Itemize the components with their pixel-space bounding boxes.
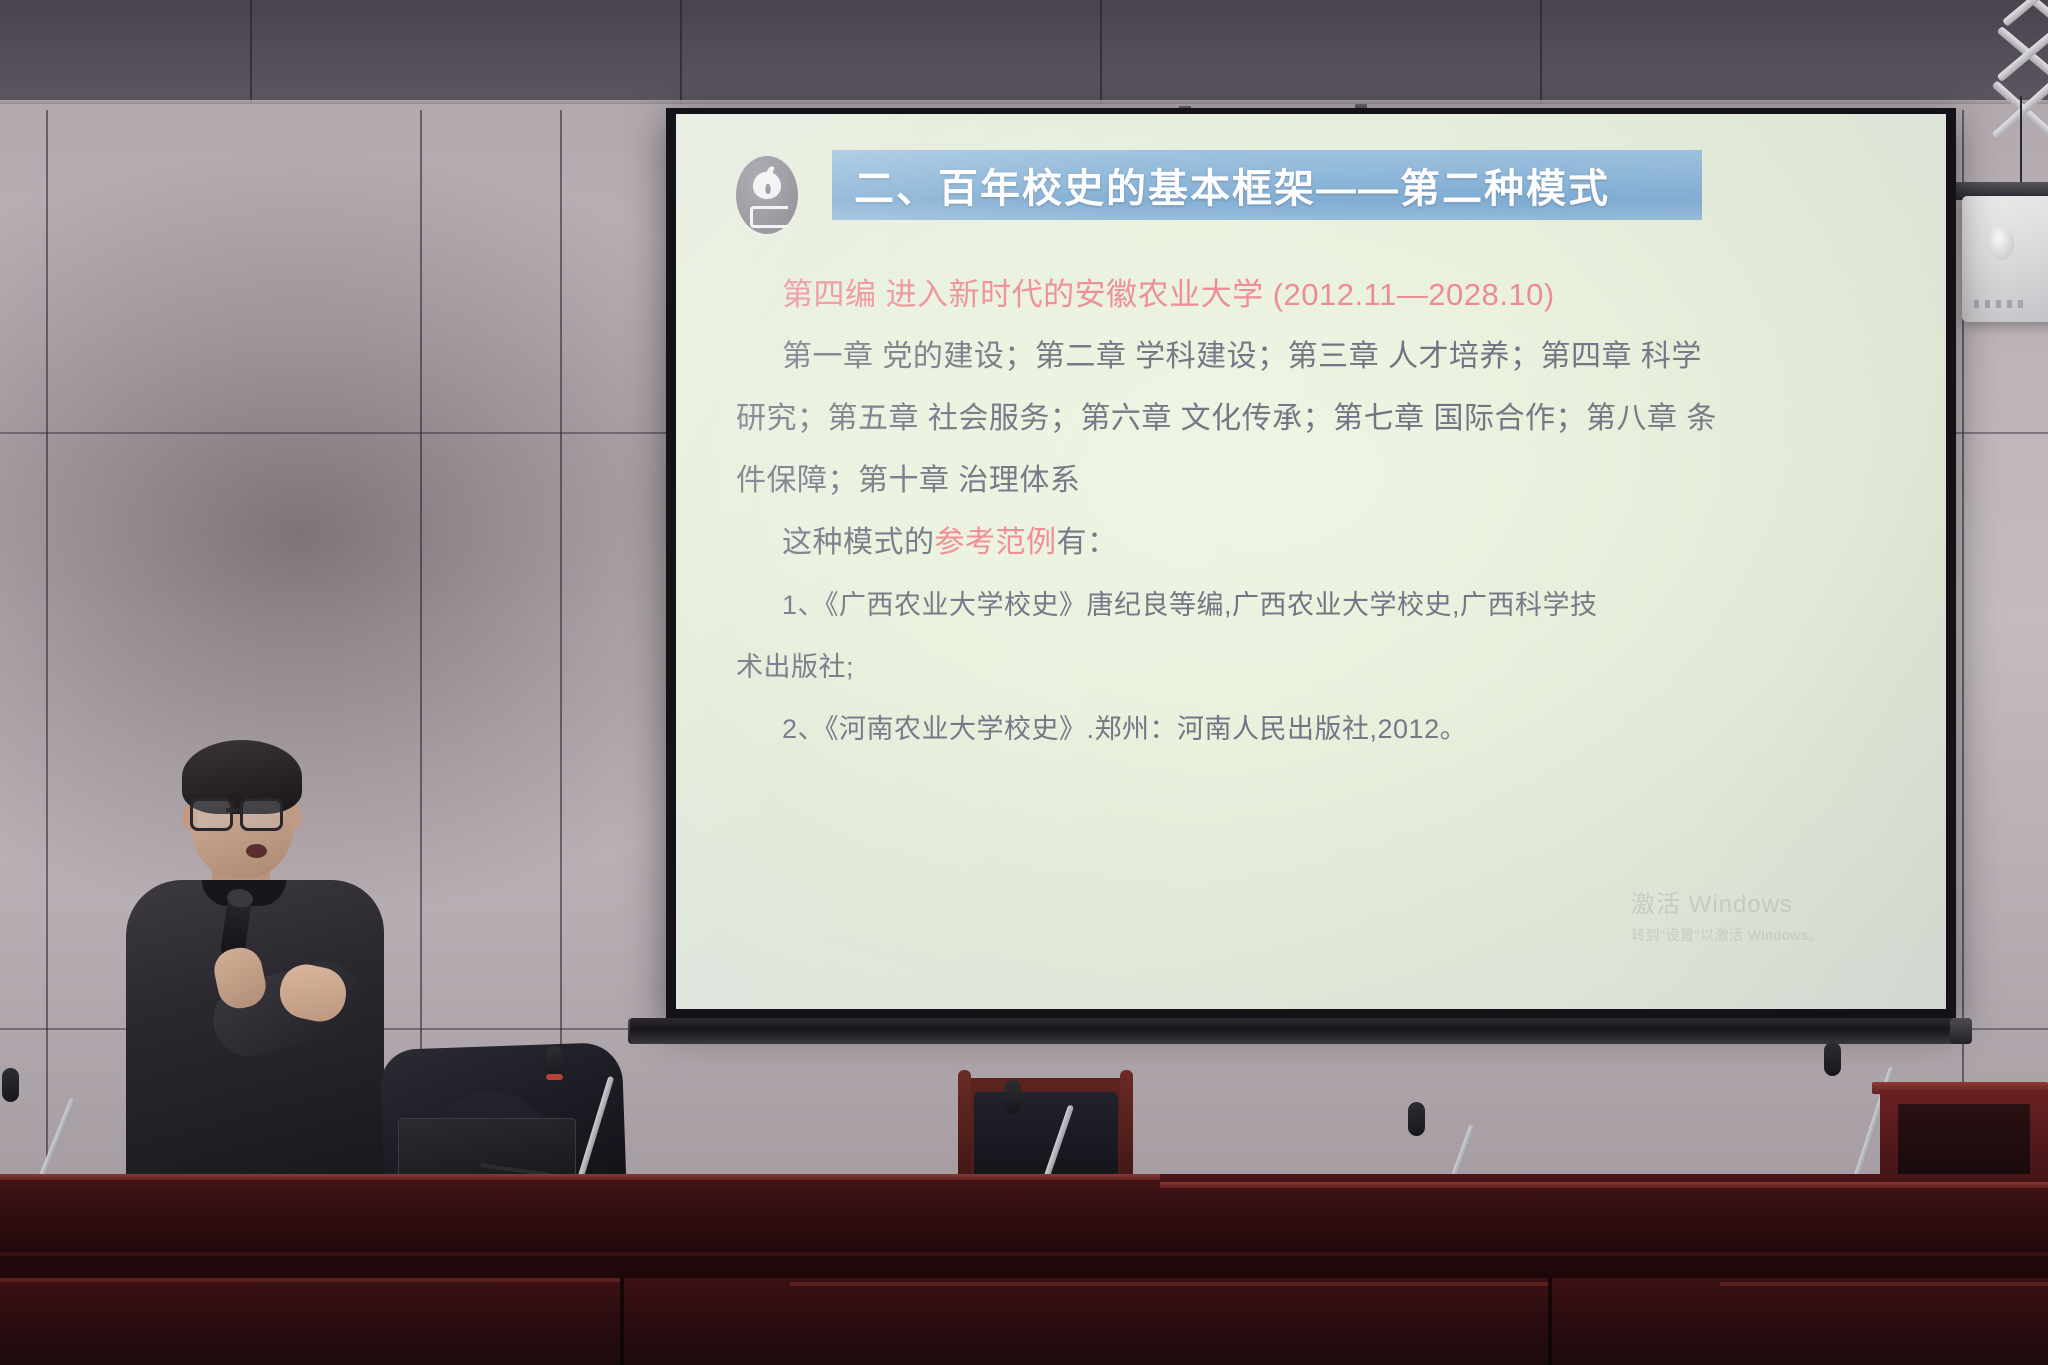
ceiling-seam [680, 0, 682, 104]
slide-title: 二、百年校史的基本框架——第二种模式 [832, 156, 1610, 214]
wood-panel-highlight [790, 1282, 1550, 1286]
microphone-capsule [1824, 1042, 1841, 1076]
table-edge [1160, 1182, 2048, 1188]
chapter-line: 第一章 党的建设；第二章 学科建设；第三章 人才培养；第四章 科学 [736, 326, 1926, 388]
wall-seam [420, 110, 422, 1170]
eyeglasses-icon [190, 798, 233, 831]
chapter-line: 研究；第五章 社会服务；第六章 文化传承；第七章 国际合作；第八章 条 [736, 388, 1926, 450]
example-reference: 1、《广西农业大学校史》唐纪良等编,广西农业大学校史,广西科学技 [736, 574, 1926, 636]
ceiling-seam [1100, 0, 1102, 104]
wood-panel-highlight [1720, 1282, 2048, 1286]
eyeglasses-bridge [226, 808, 240, 812]
university-logo-icon [736, 156, 798, 234]
microphone-capsule [1004, 1080, 1021, 1114]
wood-trim [0, 1252, 2048, 1256]
ceiling-seam [250, 0, 252, 104]
examples-intro: 这种模式的参考范例有： [736, 512, 1926, 574]
wood-panel-highlight [0, 1278, 620, 1282]
wall-seam [46, 110, 48, 1170]
chair-post [1120, 1070, 1133, 1180]
screen-roller-cap [1950, 1018, 1972, 1044]
watermark-line-1: 激活 Windows [1631, 884, 1823, 919]
chair-post [958, 1070, 971, 1180]
presenter [120, 740, 400, 1180]
projector-body [1962, 196, 2048, 322]
podium-panel [1898, 1104, 2030, 1178]
chapter-line: 件保障；第十章 治理体系 [736, 450, 1926, 512]
examples-intro-before: 这种模式的 [782, 526, 935, 559]
examples-intro-highlight: 参考范例 [935, 526, 1057, 559]
wood-panel-row [0, 1278, 2048, 1365]
watermark-line-2: 转到"设置"以激活 Windows。 [1631, 925, 1823, 945]
wood-panel-divider [1548, 1278, 1552, 1365]
screen-roller-bar[interactable] [630, 1018, 1956, 1044]
ceiling-beam [0, 0, 2048, 104]
presentation-slide: 二、百年校史的基本框架——第二种模式 第四编 进入新时代的安徽农业大学 (201… [676, 114, 1946, 1009]
eyeglasses-icon [240, 798, 283, 831]
projector-lens-icon [1988, 226, 2014, 260]
ceiling-seam [1540, 0, 1542, 104]
wood-panel-divider [620, 1278, 624, 1365]
slide-title-bar: 二、百年校史的基本框架——第二种模式 [832, 150, 1702, 220]
slide-body: 第四编 进入新时代的安徽农业大学 (2012.11—2028.10) 第一章 党… [736, 264, 1926, 760]
book-icon [750, 206, 788, 228]
example-reference: 2、《河南农业大学校史》.郑州：河南人民出版社,2012。 [736, 698, 1926, 760]
microphone-status-ring [546, 1074, 563, 1080]
example-reference-cont: 术出版社; [736, 636, 1926, 698]
examples-intro-after: 有： [1057, 526, 1118, 559]
microphone-capsule [1408, 1102, 1425, 1136]
slide-section-heading: 第四编 进入新时代的安徽农业大学 (2012.11—2028.10) [736, 264, 1926, 326]
lecture-hall-scene: 二、百年校史的基本框架——第二种模式 第四编 进入新时代的安徽农业大学 (201… [0, 0, 2048, 1365]
wall-seam [560, 110, 562, 1170]
projection-screen-surface[interactable]: 二、百年校史的基本框架——第二种模式 第四编 进入新时代的安徽农业大学 (201… [676, 114, 1946, 1009]
projection-screen-frame: 二、百年校史的基本框架——第二种模式 第四编 进入新时代的安徽农业大学 (201… [666, 108, 1956, 1020]
presenter-mouth [246, 844, 267, 858]
windows-activation-watermark: 激活 Windows 转到"设置"以激活 Windows。 [1631, 884, 1823, 945]
gooseneck-microphone[interactable] [1820, 1040, 1880, 1190]
projector-vent [1974, 300, 2028, 308]
table-edge [0, 1174, 1160, 1180]
microphone-capsule [2, 1068, 19, 1102]
